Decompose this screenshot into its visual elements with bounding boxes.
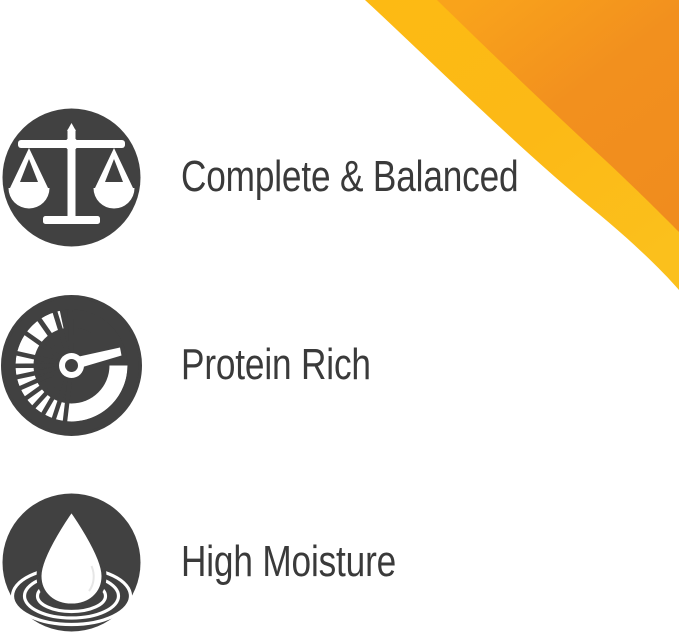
gauge-icon [1, 295, 142, 436]
feature-callout-panel: Complete & Balanced [0, 0, 679, 639]
feature-label-complete-balanced: Complete & Balanced [181, 155, 518, 199]
feature-item-complete-balanced: Complete & Balanced [0, 104, 560, 250]
feature-label-protein-rich: Protein Rich [181, 343, 371, 387]
balance-scale-icon [1, 107, 142, 248]
feature-item-high-moisture: High Moisture [0, 489, 560, 635]
feature-list: Complete & Balanced [0, 0, 679, 639]
water-drop-icon [1, 492, 142, 633]
feature-item-protein-rich: Protein Rich [0, 292, 560, 438]
feature-label-high-moisture: High Moisture [181, 540, 396, 584]
